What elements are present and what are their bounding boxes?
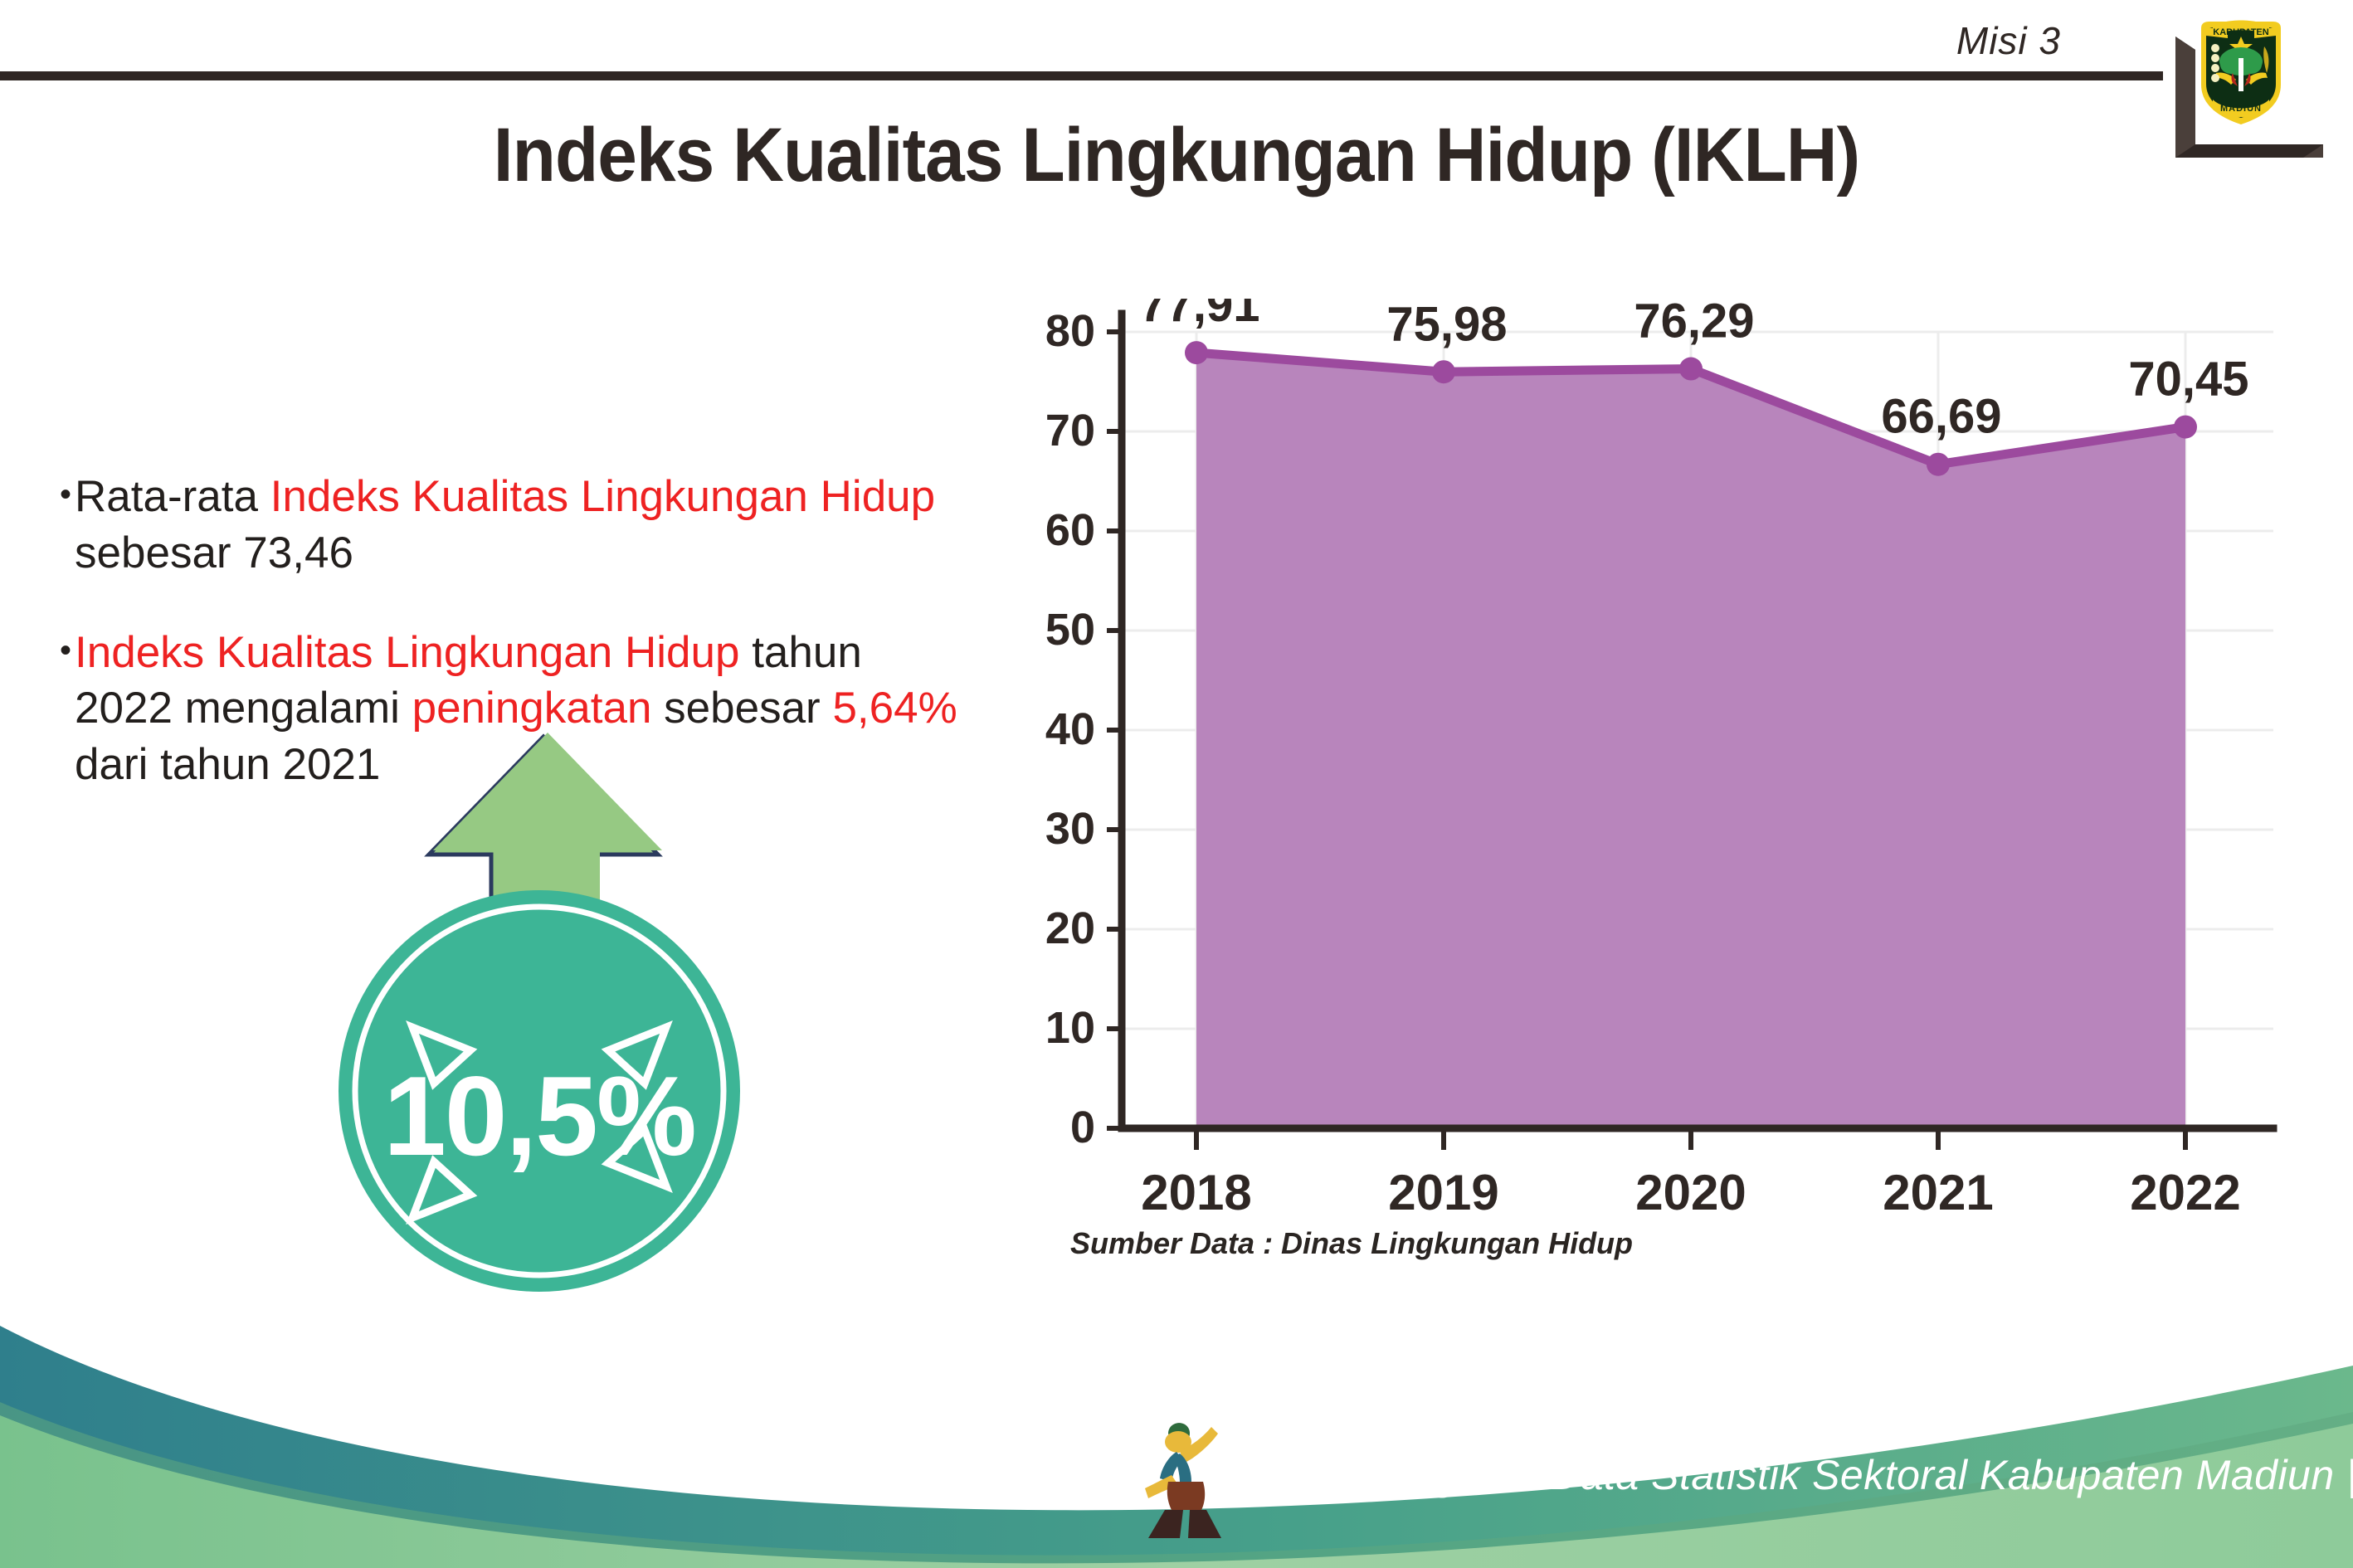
chart-data-label: 70,45 — [2128, 353, 2248, 407]
x-axis-tick-label: 2022 — [2130, 1165, 2240, 1220]
chart-data-label: 77,91 — [1139, 299, 1259, 332]
increase-badge: 10,5% — [324, 730, 755, 1220]
y-axis-tick-label: 40 — [1045, 704, 1095, 754]
bullet-marker-icon: • — [60, 625, 75, 676]
insight-bullet-1-text: Rata-rata Indeks Kualitas Lingkungan Hid… — [75, 469, 964, 582]
highlight-text: peningkatan — [412, 684, 652, 733]
chart-data-label: 75,98 — [1386, 299, 1507, 351]
chart-area-fill — [1196, 353, 2185, 1128]
badge-value-label: 10,5% — [336, 888, 743, 1294]
x-axis-tick-label: 2021 — [1883, 1165, 1993, 1220]
chart-source-note: Sumber Data : Dinas Lingkungan Hidup — [1070, 1226, 1633, 1261]
y-axis-tick-label: 0 — [1070, 1103, 1095, 1152]
iklh-area-chart: 01020304050607080 20182019202020212022 7… — [979, 299, 2307, 1244]
chart-data-label: 76,29 — [1634, 299, 1754, 348]
y-axis-tick-label: 20 — [1045, 903, 1095, 953]
plain-text: sebesar 73,46 — [75, 528, 353, 577]
y-axis-tick-label: 10 — [1045, 1003, 1095, 1053]
bullet-marker-icon: • — [60, 469, 75, 520]
plain-text: Rata-rata — [75, 472, 270, 521]
kabupaten-madiun-emblem-icon: KABUPATEN MADIUN — [2195, 13, 2287, 128]
mission-label: Misi 3 — [1956, 18, 2061, 63]
x-axis-tick-label: 2019 — [1388, 1165, 1498, 1220]
chart-x-axis: 20182019202020212022 — [1122, 1128, 2273, 1220]
x-axis-tick-label: 2020 — [1635, 1165, 1746, 1220]
highlight-text: 5,64% — [832, 684, 957, 733]
chart-y-axis: 01020304050607080 — [1045, 306, 1122, 1152]
y-axis-tick-label: 60 — [1045, 505, 1095, 555]
chart-data-label: 66,69 — [1881, 390, 2001, 444]
emblem-top-text: KABUPATEN — [2213, 27, 2268, 37]
y-axis-tick-label: 70 — [1045, 406, 1095, 455]
y-axis-tick-label: 30 — [1045, 804, 1095, 854]
x-axis-tick-label: 2018 — [1141, 1165, 1251, 1220]
footer-caption: Media Infografis Data Statistik Sektoral… — [1236, 1451, 2353, 1499]
insight-bullet-1: • Rata-rata Indeks Kualitas Lingkungan H… — [60, 469, 964, 582]
highlight-text: Indeks Kualitas Lingkungan Hidup — [270, 472, 935, 521]
page-title: Indeks Kualitas Lingkungan Hidup (IKLH) — [82, 112, 2270, 199]
y-axis-tick-label: 80 — [1045, 306, 1095, 356]
plain-text: sebesar — [651, 684, 832, 733]
dancer-figure-icon — [1143, 1417, 1226, 1541]
y-axis-tick-label: 50 — [1045, 605, 1095, 655]
header-divider-line — [0, 71, 2163, 80]
highlight-text: Indeks Kualitas Lingkungan Hidup — [75, 628, 739, 677]
